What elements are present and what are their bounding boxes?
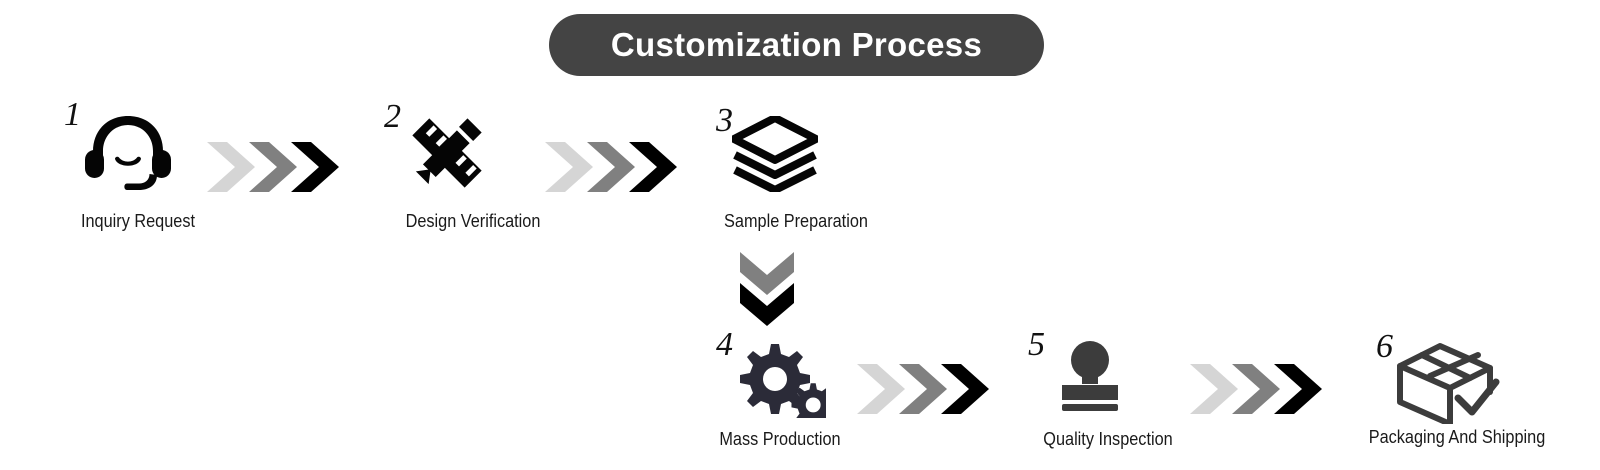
step-6-number: 6	[1376, 330, 1393, 364]
step-2-icon-row: 2	[348, 98, 548, 194]
headset-icon	[82, 113, 174, 198]
step-6-icon-row: 6	[1320, 328, 1520, 424]
gears-icon	[736, 342, 826, 423]
step-1-inquiry-request: 1 Inquiry Request	[20, 98, 220, 194]
step-4-mass-production: 4 Mass Production	[668, 328, 868, 424]
step-5-quality-inspection: 5 Quality Inspection	[980, 328, 1180, 424]
step-2-number: 2	[384, 100, 401, 134]
layers-stack-icon	[732, 116, 818, 197]
step-1-label: Inquiry Request	[24, 210, 253, 232]
step-3-number: 3	[716, 104, 733, 138]
step-1-icon-row: 1	[20, 98, 220, 194]
step-3-sample-preparation: 3 Sample Preparation	[668, 98, 868, 194]
step-4-number: 4	[716, 328, 733, 362]
connector-4-to-5	[855, 362, 990, 416]
connector-3-to-4	[738, 250, 796, 333]
step-5-number: 5	[1028, 328, 1045, 362]
step-6-label: Packaging And Shipping	[1343, 426, 1572, 448]
page-title: Customization Process	[611, 26, 982, 64]
step-5-icon-row: 5	[980, 328, 1180, 424]
step-6-packaging-and-shipping: 6 Packaging And Shipping	[1320, 328, 1520, 424]
page-title-banner: Customization Process	[549, 14, 1044, 76]
package-check-icon	[1392, 340, 1502, 429]
step-5-label: Quality Inspection	[994, 428, 1223, 450]
step-2-label: Design Verification	[359, 210, 588, 232]
step-4-label: Mass Production	[666, 428, 895, 450]
step-2-design-verification: 2 Design Verification	[348, 98, 548, 194]
step-3-label: Sample Preparation	[682, 210, 911, 232]
connector-5-to-6	[1188, 362, 1323, 416]
step-3-icon-row: 3	[668, 98, 868, 194]
stamp-icon	[1052, 340, 1128, 417]
connector-1-to-2	[205, 140, 340, 194]
ruler-pencil-icon	[406, 114, 488, 197]
step-4-icon-row: 4	[668, 328, 868, 424]
connector-2-to-3	[543, 140, 678, 194]
step-1-number: 1	[64, 98, 81, 132]
